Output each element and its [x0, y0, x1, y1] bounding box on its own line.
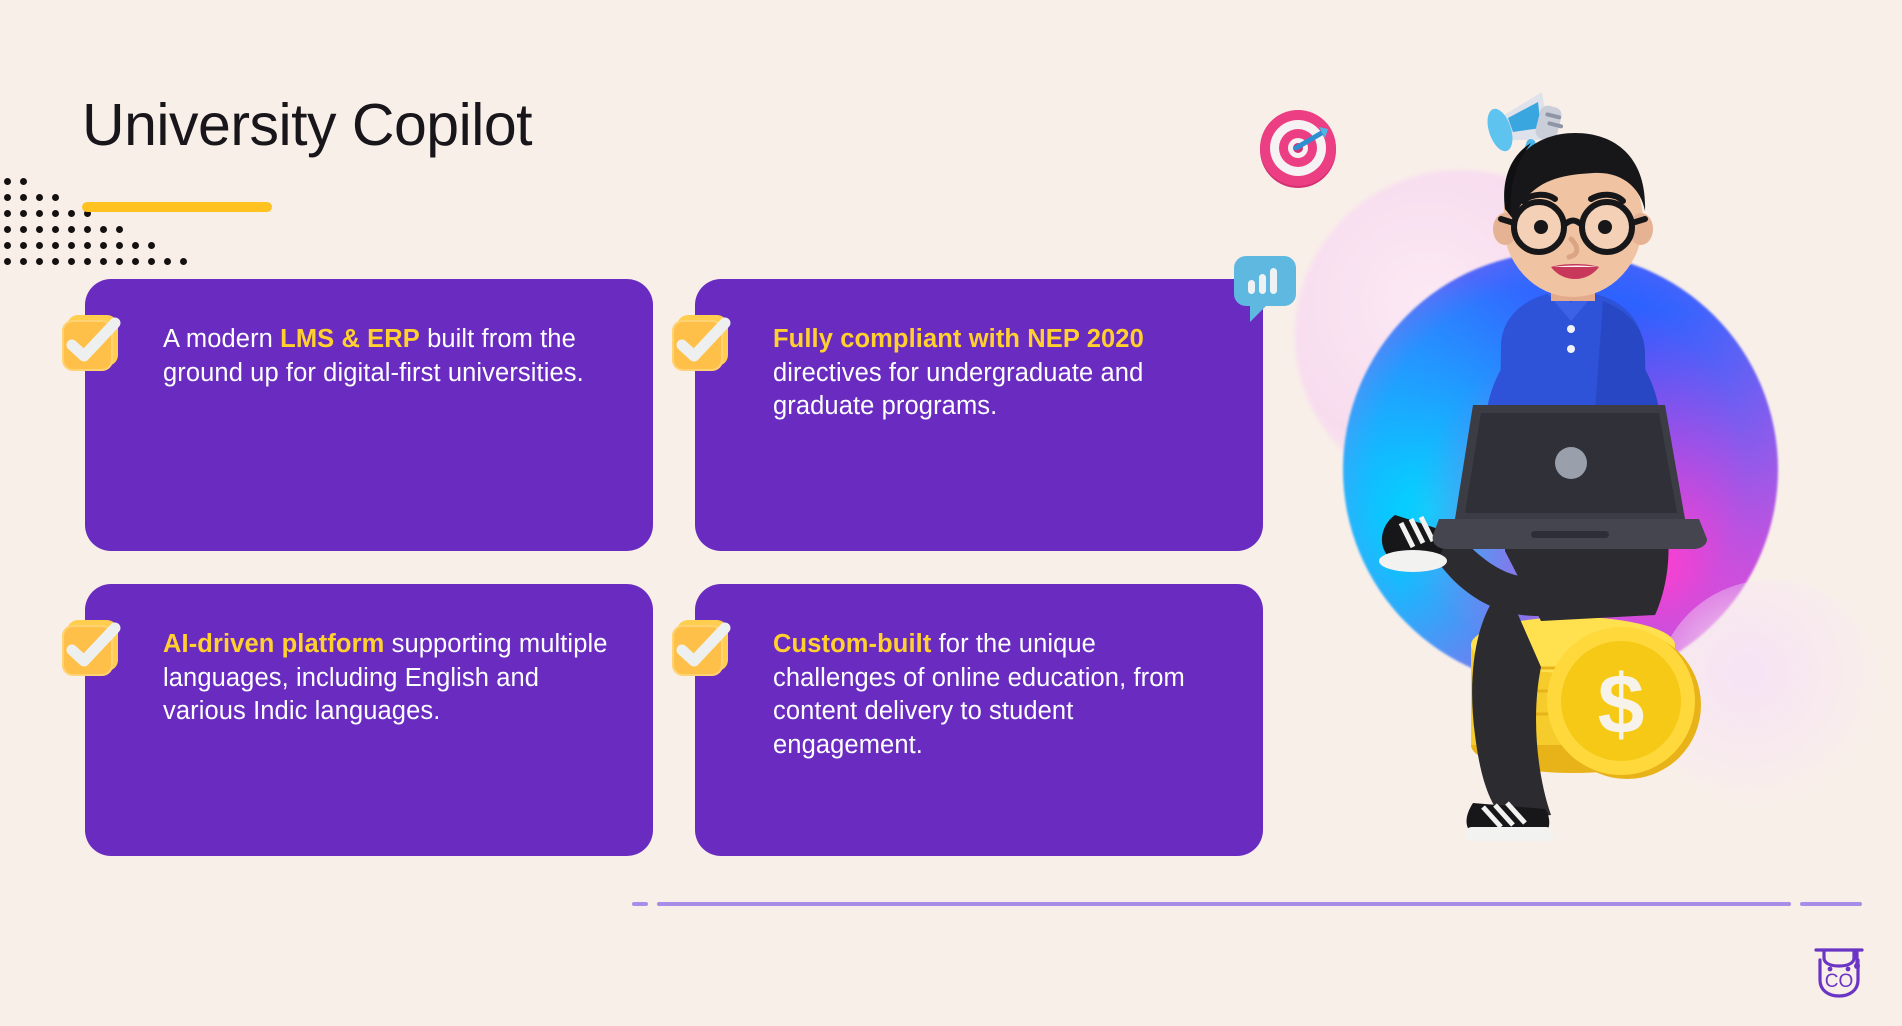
dot — [4, 242, 11, 249]
feature-card-1-text: A modern LMS & ERP built from the ground… — [163, 323, 613, 390]
dot — [180, 258, 187, 265]
dot — [132, 242, 139, 249]
dot — [52, 194, 59, 201]
dot — [84, 242, 91, 249]
title-block: University Copilot — [82, 95, 532, 212]
chart-bubble-icon — [1230, 250, 1304, 331]
feature-card-3-text: AI-driven platform supporting multiple l… — [163, 628, 613, 729]
feature-card-2[interactable]: Fully compliant with NEP 2020 directives… — [695, 279, 1263, 551]
dot — [4, 194, 11, 201]
dot — [4, 210, 11, 217]
feature-card-1[interactable]: A modern LMS & ERP built from the ground… — [85, 279, 653, 551]
target-dartboard-icon — [1255, 105, 1341, 196]
dot — [36, 210, 43, 217]
card-row-2: AI-driven platform supporting multiple l… — [85, 584, 1263, 856]
checkbox-checked-icon — [672, 620, 728, 676]
dot — [4, 258, 11, 265]
dot — [4, 178, 11, 185]
dot — [164, 258, 171, 265]
dot — [148, 258, 155, 265]
divider-dash-right — [1800, 902, 1862, 906]
logo-text: CO — [1825, 971, 1854, 992]
dot — [100, 258, 107, 265]
checkbox-checked-icon — [62, 620, 118, 676]
slide-root: University Copilot A modern LMS & ERP bu… — [0, 0, 1902, 1026]
dot — [84, 258, 91, 265]
dot — [20, 210, 27, 217]
dot — [36, 194, 43, 201]
character-illustration: $ — [1355, 115, 1785, 845]
dot — [68, 210, 75, 217]
card-row-1: A modern LMS & ERP built from the ground… — [85, 279, 1263, 551]
dot — [20, 258, 27, 265]
checkbox-checked-icon — [672, 315, 728, 371]
svg-text:$: $ — [1598, 657, 1645, 751]
feature-card-2-text: Fully compliant with NEP 2020 directives… — [773, 323, 1223, 424]
dot — [20, 226, 27, 233]
dot — [20, 194, 27, 201]
feature-card-3[interactable]: AI-driven platform supporting multiple l… — [85, 584, 653, 856]
dot — [36, 226, 43, 233]
page-title: University Copilot — [82, 95, 532, 157]
dot — [4, 226, 11, 233]
dot — [20, 178, 27, 185]
dot — [68, 226, 75, 233]
dot — [116, 242, 123, 249]
dot — [100, 226, 107, 233]
dot — [68, 242, 75, 249]
dot — [36, 242, 43, 249]
hero-illustration: $ — [1235, 60, 1885, 890]
graduation-cap-co-logo: CO — [1808, 938, 1870, 1000]
dot — [52, 258, 59, 265]
dot — [132, 258, 139, 265]
dot — [36, 258, 43, 265]
dot — [84, 226, 91, 233]
dot — [20, 242, 27, 249]
dot — [100, 242, 107, 249]
dot — [116, 258, 123, 265]
divider-line — [657, 902, 1791, 906]
bottom-divider — [632, 902, 1862, 906]
feature-card-4-text: Custom-built for the unique challenges o… — [773, 628, 1223, 763]
divider-dash-left — [632, 902, 648, 906]
dot — [148, 242, 155, 249]
feature-card-grid: A modern LMS & ERP built from the ground… — [85, 279, 1263, 856]
feature-card-4[interactable]: Custom-built for the unique challenges o… — [695, 584, 1263, 856]
dot — [68, 258, 75, 265]
dot — [52, 226, 59, 233]
dot — [116, 226, 123, 233]
dot — [52, 242, 59, 249]
dot — [52, 210, 59, 217]
checkbox-checked-icon — [62, 315, 118, 371]
title-accent-bar — [82, 202, 272, 212]
